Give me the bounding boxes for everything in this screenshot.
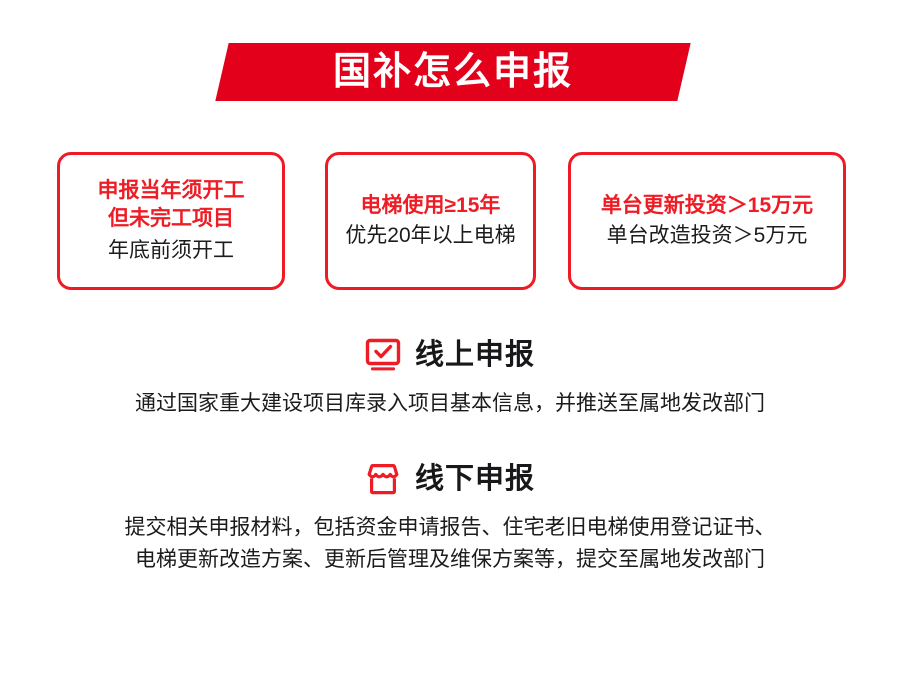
criteria-box-elevator-age: 电梯使用≥15年 优先20年以上电梯: [325, 152, 536, 290]
section-offline-line: 电梯更新改造方案、更新后管理及维保方案等，提交至属地发改部门: [0, 544, 900, 576]
criteria-row: 申报当年须开工 但未完工项目 年底前须开工 电梯使用≥15年 优先20年以上电梯…: [0, 152, 900, 290]
section-online-body: 通过国家重大建设项目库录入项目基本信息，并推送至属地发改部门: [0, 388, 900, 420]
criteria-red-line: 申报当年须开工: [98, 177, 245, 205]
section-offline-line: 提交相关申报材料，包括资金申请报告、住宅老旧电梯使用登记证书、: [0, 512, 900, 544]
criteria-box-start-construction: 申报当年须开工 但未完工项目 年底前须开工: [57, 152, 285, 290]
criteria-red-line: 但未完工项目: [108, 205, 234, 233]
criteria-red-line: 电梯使用≥15年: [361, 192, 501, 220]
section-online-header: 线上申报: [0, 334, 900, 376]
criteria-dark-line: 单台改造投资＞5万元: [607, 222, 808, 250]
criteria-box-investment-threshold: 单台更新投资＞15万元 单台改造投资＞5万元: [568, 152, 846, 290]
criteria-dark-line: 优先20年以上电梯: [345, 222, 515, 250]
banner-title: 国补怎么申报: [222, 43, 684, 101]
criteria-red-line: 单台更新投资＞15万元: [601, 192, 813, 220]
criteria-dark-line: 年底前须开工: [108, 237, 234, 265]
section-online-line: 通过国家重大建设项目库录入项目基本信息，并推送至属地发改部门: [0, 388, 900, 420]
title-banner: 国补怎么申报: [0, 43, 900, 101]
section-offline-application: 线下申报 提交相关申报材料，包括资金申请报告、住宅老旧电梯使用登记证书、 电梯更…: [0, 458, 900, 576]
section-offline-header: 线下申报: [0, 458, 900, 500]
section-offline-body: 提交相关申报材料，包括资金申请报告、住宅老旧电梯使用登记证书、 电梯更新改造方案…: [0, 512, 900, 576]
storefront-icon: [365, 462, 401, 496]
section-online-title: 线上申报: [415, 341, 535, 370]
section-online-application: 线上申报 通过国家重大建设项目库录入项目基本信息，并推送至属地发改部门: [0, 334, 900, 420]
monitor-check-icon: [365, 338, 401, 372]
section-offline-title: 线下申报: [415, 465, 535, 494]
infographic-page: 国补怎么申报 申报当年须开工 但未完工项目 年底前须开工 电梯使用≥15年 优先…: [0, 0, 900, 685]
